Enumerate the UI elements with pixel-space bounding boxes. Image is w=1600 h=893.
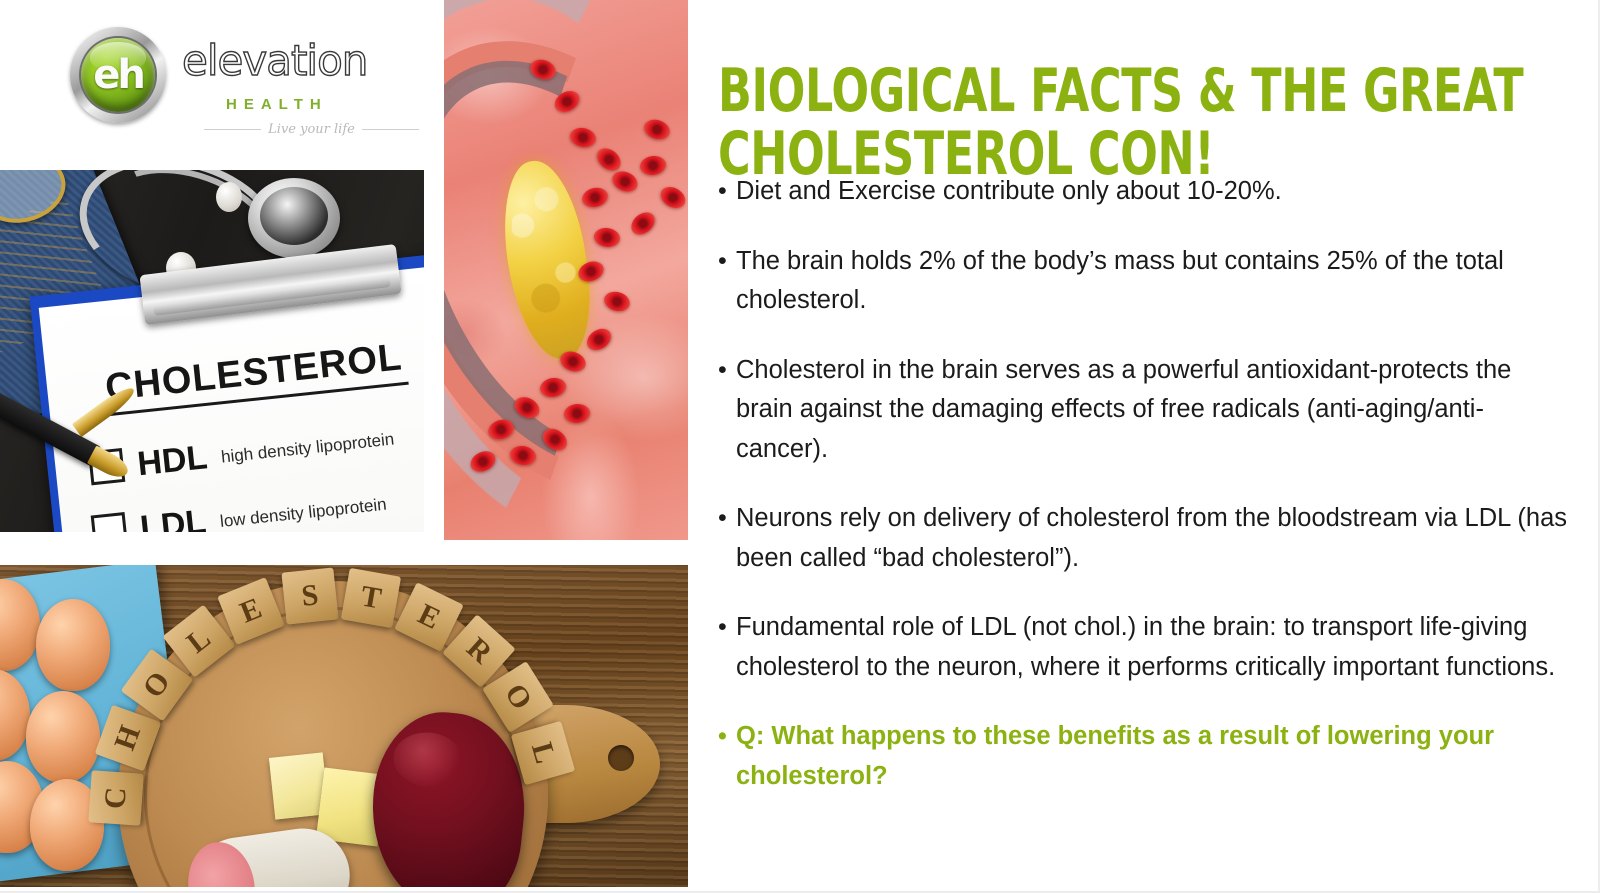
form-row-desc: low density lipoprotein — [219, 495, 388, 532]
fact-text: Q: What happens to these benefits as a r… — [736, 717, 1574, 796]
fact-item-question: •Q: What happens to these benefits as a … — [718, 717, 1578, 796]
page-title-line-1: BIOLOGICAL FACTS & THE GREAT — [718, 60, 1354, 122]
bullet-dot-icon: • — [718, 242, 736, 281]
stethoscope-earpiece — [216, 182, 242, 212]
fact-item: •Diet and Exercise contribute only about… — [718, 172, 1578, 212]
logo-monogram: eh — [81, 38, 155, 112]
fact-item: •Fundamental role of LDL (not chol.) in … — [718, 608, 1578, 687]
fact-text: The brain holds 2% of the body’s mass bu… — [736, 242, 1574, 321]
bullet-dot-icon: • — [718, 351, 736, 390]
fact-text: Cholesterol in the brain serves as a pow… — [736, 351, 1574, 470]
egg — [36, 599, 110, 691]
bullet-dot-icon: • — [718, 172, 736, 211]
photo-cholesterol-clipboard: CHOLESTEROL HDL high density lipoprotein… — [0, 170, 424, 532]
page-title: BIOLOGICAL FACTS & THE GREAT CHOLESTEROL… — [718, 60, 1354, 185]
checkbox-ldl[interactable] — [91, 512, 128, 532]
fact-text: Fundamental role of LDL (not chol.) in t… — [736, 608, 1574, 687]
logo-tagline: Live your life — [268, 122, 355, 137]
content-column: BIOLOGICAL FACTS & THE GREAT CHOLESTEROL… — [700, 0, 1600, 893]
elevation-health-logo[interactable]: eh elevation HEALTH Live your life — [64, 22, 404, 150]
fact-text: Neurons rely on delivery of cholesterol … — [736, 499, 1574, 578]
letter-tile: C — [88, 770, 144, 826]
form-row-desc: high density lipoprotein — [220, 429, 395, 471]
logo-badge-icon: eh — [70, 27, 166, 123]
tagline-rule-left — [204, 129, 261, 130]
fact-text: Diet and Exercise contribute only about … — [736, 172, 1574, 212]
slide-canvas: eh elevation HEALTH Live your life CHOLE… — [0, 0, 1600, 893]
form-row-ldl: LDL low density lipoprotein — [91, 485, 388, 532]
bullet-dot-icon: • — [718, 608, 736, 647]
form-row-abbr: HDL — [136, 441, 209, 480]
letter-tile: T — [341, 568, 401, 628]
bullet-dot-icon: • — [718, 717, 736, 756]
photo-cholesterol-foods: CHOLESTEROL — [0, 565, 688, 887]
photo-artery-plaque — [444, 0, 688, 540]
tagline-rule-right — [362, 129, 419, 130]
fact-item: •The brain holds 2% of the body’s mass b… — [718, 242, 1578, 321]
logo-sub-wordmark: HEALTH — [226, 96, 328, 113]
stethoscope-chestpiece — [248, 178, 340, 258]
logo-tagline-row: Live your life — [204, 122, 419, 137]
form-row-hdl: HDL high density lipoprotein — [88, 420, 396, 486]
fact-list: •Diet and Exercise contribute only about… — [718, 172, 1578, 796]
fact-item: •Cholesterol in the brain serves as a po… — [718, 351, 1578, 470]
bullet-dot-icon: • — [718, 499, 736, 538]
clipboard: CHOLESTEROL HDL high density lipoprotein… — [29, 253, 424, 532]
letter-tile: S — [282, 568, 339, 625]
form-row-abbr: LDL — [139, 505, 208, 532]
egg — [26, 691, 100, 783]
fact-item: •Neurons rely on delivery of cholesterol… — [718, 499, 1578, 578]
logo-wordmark: elevation — [182, 40, 367, 82]
